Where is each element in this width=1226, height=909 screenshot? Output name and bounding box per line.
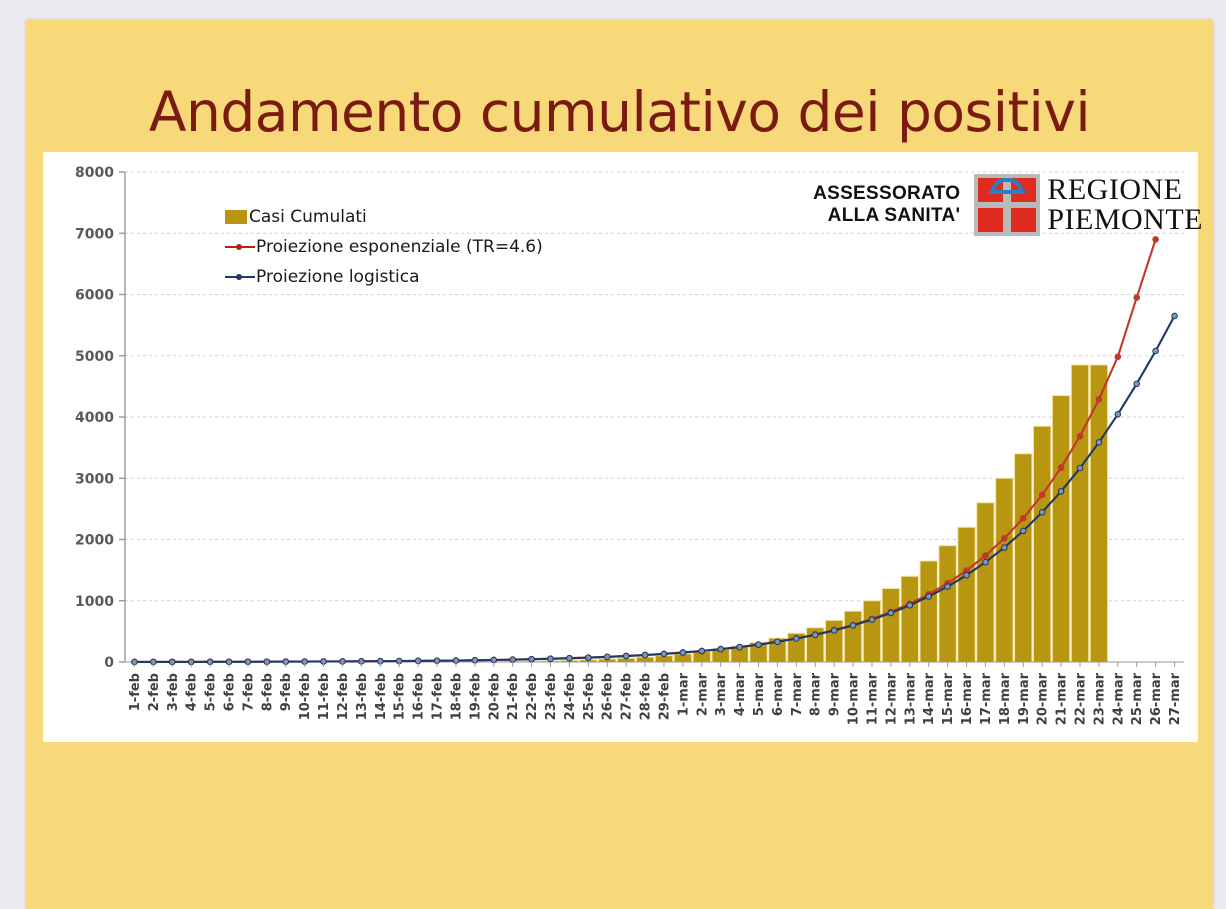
legend-item-logistica: Proiezione logistica	[225, 262, 543, 292]
x-tick-label: 4-feb	[185, 673, 200, 711]
legend-label-0: Casi Cumulati	[249, 202, 367, 232]
data-point	[586, 655, 592, 661]
data-point	[1134, 381, 1140, 387]
data-point	[1115, 354, 1121, 360]
data-point	[1096, 440, 1102, 446]
slide-canvas: Andamento cumulativo dei positivi 010002…	[26, 20, 1213, 909]
x-tick-label: 2-mar	[695, 672, 710, 716]
data-point	[945, 584, 951, 590]
x-tick-label: 27-feb	[620, 673, 635, 720]
data-point	[1096, 397, 1102, 403]
x-tick-label: 3-mar	[714, 672, 729, 716]
x-tick-label: 1-feb	[128, 673, 143, 711]
data-point	[831, 628, 837, 634]
data-point	[1020, 515, 1026, 521]
data-point	[642, 652, 648, 658]
x-tick-label: 18-mar	[998, 672, 1013, 725]
x-tick-label: 7-mar	[790, 672, 805, 716]
y-tick-label: 0	[104, 655, 114, 671]
x-tick-label: 3-feb	[166, 673, 181, 711]
x-tick-label: 24-mar	[1111, 672, 1126, 725]
x-tick-label: 8-feb	[260, 673, 275, 711]
x-tick-label: 12-mar	[884, 672, 899, 725]
x-tick-label: 1-mar	[676, 672, 691, 716]
x-tick-label: 12-feb	[336, 673, 351, 720]
data-point	[926, 594, 932, 600]
chart-plot-area: 0100020003000400050006000700080001-feb2-…	[43, 152, 1198, 742]
legend-swatch-bar	[225, 210, 247, 224]
data-point	[1077, 433, 1083, 439]
x-tick-label: 18-feb	[449, 673, 464, 720]
bar	[977, 503, 994, 662]
bar	[901, 576, 918, 662]
bar	[844, 611, 861, 662]
chart-svg: 0100020003000400050006000700080001-feb2-…	[43, 152, 1198, 742]
data-point	[812, 632, 818, 638]
branding-block: ASSESSORATO ALLA SANITA' REGIONE PIEMONT…	[743, 172, 1203, 238]
data-point	[1058, 465, 1064, 471]
x-tick-label: 22-feb	[525, 673, 540, 720]
data-point	[491, 657, 497, 663]
x-tick-label: 7-feb	[241, 673, 256, 711]
x-tick-label: 9-mar	[828, 672, 843, 716]
page-title: Andamento cumulativo dei positivi	[26, 82, 1213, 142]
x-tick-label: 26-feb	[601, 673, 616, 720]
legend-item-casi-cumulati: Casi Cumulati	[225, 202, 543, 232]
bar	[939, 546, 956, 662]
data-point	[1077, 465, 1083, 471]
x-tick-label: 5-mar	[752, 672, 767, 716]
legend-label-2: Proiezione logistica	[256, 262, 419, 292]
x-tick-label: 8-mar	[809, 672, 824, 716]
legend-line-esponenziale	[225, 240, 255, 254]
x-tick-label: 21-mar	[1055, 672, 1070, 725]
regione-piemonte-wordmark: REGIONE PIEMONTE	[1047, 175, 1203, 235]
logo-line1: REGIONE	[1047, 175, 1203, 205]
data-point	[964, 572, 970, 578]
x-tick-label: 21-feb	[506, 673, 521, 720]
data-point	[907, 603, 913, 609]
data-point	[850, 623, 856, 629]
x-tick-label: 28-feb	[639, 673, 654, 720]
x-tick-label: 22-mar	[1073, 672, 1088, 725]
y-tick-label: 4000	[75, 410, 114, 426]
data-point	[794, 636, 800, 642]
x-tick-label: 27-mar	[1168, 672, 1183, 725]
x-tick-label: 20-mar	[1036, 672, 1051, 725]
x-tick-label: 6-feb	[223, 673, 238, 711]
x-tick-label: 25-mar	[1130, 672, 1145, 725]
data-point	[510, 657, 516, 663]
x-tick-label: 23-feb	[544, 673, 559, 720]
data-point	[1002, 545, 1008, 551]
bar	[920, 561, 937, 662]
data-point	[529, 656, 535, 662]
data-point	[567, 655, 573, 661]
data-point	[1115, 412, 1121, 418]
x-tick-label: 4-mar	[733, 672, 748, 716]
bar	[1015, 454, 1032, 662]
assessorato-line1: ASSESSORATO	[813, 183, 960, 205]
legend-line-logistica	[225, 270, 255, 284]
crest-quadrant-4	[1011, 208, 1036, 232]
data-point	[1002, 536, 1008, 542]
x-tick-label: 13-mar	[903, 672, 918, 725]
x-tick-label: 11-feb	[317, 673, 332, 720]
x-tick-label: 13-feb	[355, 673, 370, 720]
y-tick-label: 8000	[75, 165, 114, 181]
x-tick-label: 23-mar	[1092, 672, 1107, 725]
y-tick-label: 3000	[75, 471, 114, 487]
data-point	[680, 650, 686, 656]
bar	[1052, 396, 1069, 662]
x-tick-label: 10-feb	[298, 673, 313, 720]
x-tick-label: 17-mar	[979, 672, 994, 725]
data-point	[604, 654, 610, 660]
x-tick-label: 19-feb	[468, 673, 483, 720]
data-point	[548, 656, 554, 662]
bar	[1071, 365, 1088, 662]
data-point	[1153, 348, 1159, 354]
bar	[1033, 426, 1050, 662]
bar	[958, 527, 975, 662]
data-point	[1020, 528, 1026, 534]
chart-legend: Casi Cumulati Proiezione esponenziale (T…	[225, 202, 543, 292]
data-point	[699, 648, 705, 654]
x-tick-label: 11-mar	[865, 672, 880, 725]
legend-item-esponenziale: Proiezione esponenziale (TR=4.6)	[225, 232, 543, 262]
bar	[825, 620, 842, 662]
y-tick-label: 7000	[75, 226, 114, 242]
crest-quadrant-3	[978, 208, 1003, 232]
x-tick-label: 25-feb	[582, 673, 597, 720]
x-tick-label: 6-mar	[771, 672, 786, 716]
x-tick-label: 16-mar	[960, 672, 975, 725]
data-point	[661, 651, 667, 657]
x-tick-label: 2-feb	[147, 673, 162, 711]
legend-label-1: Proiezione esponenziale (TR=4.6)	[256, 232, 543, 262]
chart-container: 0100020003000400050006000700080001-feb2-…	[43, 152, 1198, 742]
x-tick-label: 24-feb	[563, 673, 578, 720]
y-tick-label: 1000	[75, 594, 114, 610]
bar	[882, 589, 899, 663]
x-tick-label: 14-feb	[374, 673, 389, 720]
data-point	[775, 639, 781, 645]
regione-piemonte-logo: REGIONE PIEMONTE	[974, 174, 1203, 236]
y-tick-label: 5000	[75, 349, 114, 365]
x-tick-label: 14-mar	[922, 672, 937, 725]
x-tick-label: 9-feb	[279, 673, 294, 711]
x-tick-label: 20-feb	[487, 673, 502, 720]
x-tick-label: 26-mar	[1149, 672, 1164, 725]
x-tick-label: 19-mar	[1017, 672, 1032, 725]
assessorato-text: ASSESSORATO ALLA SANITA'	[813, 183, 960, 227]
y-tick-label: 6000	[75, 288, 114, 304]
data-point	[756, 642, 762, 648]
bar	[863, 601, 880, 662]
x-tick-label: 5-feb	[204, 673, 219, 711]
data-point	[869, 617, 875, 623]
x-tick-label: 15-mar	[941, 672, 956, 725]
data-point	[1058, 489, 1064, 495]
data-point	[888, 610, 894, 616]
data-point	[718, 646, 724, 652]
x-tick-label: 16-feb	[412, 673, 427, 720]
data-point	[1172, 313, 1178, 319]
x-tick-label: 10-mar	[847, 672, 862, 725]
data-point	[983, 559, 989, 565]
logo-line2: PIEMONTE	[1047, 205, 1203, 235]
x-tick-label: 17-feb	[431, 673, 446, 720]
data-point	[737, 644, 743, 650]
data-point	[1039, 509, 1045, 515]
x-tick-label: 15-feb	[393, 673, 408, 720]
y-tick-label: 2000	[75, 533, 114, 549]
data-point	[1039, 492, 1045, 498]
piemonte-crest-icon	[974, 174, 1040, 236]
bar	[996, 478, 1013, 662]
x-tick-label: 29-feb	[657, 673, 672, 720]
data-point	[983, 553, 989, 559]
data-point	[623, 653, 629, 659]
crest-arc-bar	[989, 190, 1025, 194]
data-point	[1134, 295, 1140, 301]
assessorato-line2: ALLA SANITA'	[813, 205, 960, 227]
